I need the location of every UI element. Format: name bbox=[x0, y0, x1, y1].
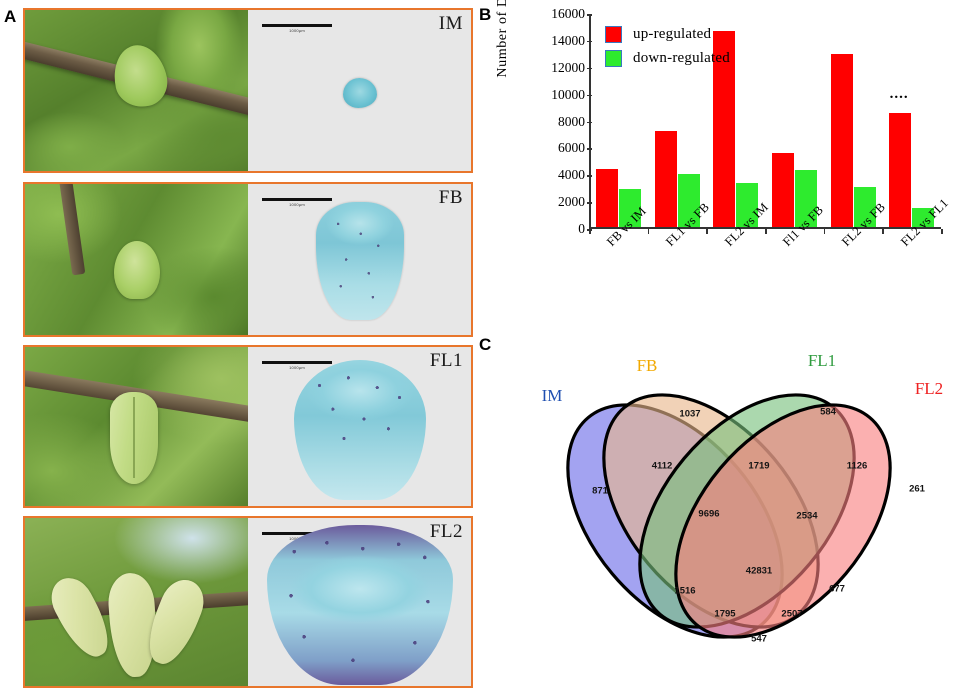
x-tick-mark-2 bbox=[706, 229, 708, 234]
bar-group-3 bbox=[771, 12, 817, 227]
deg-bar-chart: Number of DEGs 0200040006000800010000120… bbox=[497, 8, 959, 328]
specimen-row-fl1: 1000μm FL1 bbox=[23, 345, 473, 508]
venn-count-im_fb_fl1_fl2: 42831 bbox=[746, 566, 773, 577]
photo-fb bbox=[25, 184, 248, 335]
venn-ellipses bbox=[525, 355, 932, 677]
y-tick-14000: 14000 bbox=[545, 33, 585, 49]
venn-count-im_only: 871 bbox=[592, 486, 609, 497]
bar-up-5 bbox=[889, 113, 911, 227]
venn-diagram: IMFBFL1FL2 87110375842614112171911269696… bbox=[497, 336, 959, 691]
y-tick-10000: 10000 bbox=[545, 87, 585, 103]
y-tick-mark bbox=[587, 68, 592, 70]
venn-count-im_fl1: 1516 bbox=[674, 586, 695, 597]
panel-b-letter: B bbox=[479, 6, 491, 23]
specimen-row-fb: 1000μm FB bbox=[23, 182, 473, 337]
venn-set-label-fl2: FL2 bbox=[915, 379, 943, 398]
scale-bar-line bbox=[262, 24, 332, 27]
y-tick-label: 0 bbox=[578, 221, 585, 236]
bar-up-1 bbox=[655, 131, 677, 227]
tissue-section-fb bbox=[316, 202, 404, 320]
photo-im bbox=[25, 10, 248, 171]
venn-count-im_fb: 4112 bbox=[652, 461, 673, 472]
venn-count-fb_fl1_fl2: 2534 bbox=[796, 511, 818, 522]
venn-count-im_fb_fl2: 2507 bbox=[781, 609, 802, 620]
x-tick-mark-end bbox=[941, 229, 943, 234]
photo-fl1 bbox=[25, 347, 248, 506]
y-tick-6000: 6000 bbox=[545, 140, 585, 156]
legend-swatch-down-icon bbox=[605, 50, 622, 67]
scale-bar-caption: 1000μm bbox=[262, 28, 332, 33]
venn-count-im_fb_fl1: 9696 bbox=[698, 509, 719, 520]
scale-bar-im: 1000μm bbox=[262, 24, 332, 33]
bud-shape bbox=[110, 392, 158, 484]
y-tick-label: 16000 bbox=[551, 6, 585, 21]
y-tick-8000: 8000 bbox=[545, 114, 585, 130]
legend-item-up-regulated: up-regulated bbox=[605, 26, 730, 43]
venn-count-fb_fl1: 1719 bbox=[748, 461, 769, 472]
y-tick-mark bbox=[587, 202, 592, 204]
y-tick-mark bbox=[587, 14, 592, 16]
chart-legend: up-regulated down-regulated bbox=[605, 26, 730, 74]
legend-label-up: up-regulated bbox=[633, 26, 711, 43]
venn-count-fl2_only: 261 bbox=[909, 484, 926, 495]
tissue-section-fl2 bbox=[267, 525, 453, 685]
venn-set-label-fb: FB bbox=[637, 356, 658, 375]
x-tick-mark-5 bbox=[882, 229, 884, 234]
micrograph-fb: 1000μm FB bbox=[248, 184, 471, 335]
micrograph-fl1: 1000μm FL1 bbox=[248, 347, 471, 506]
y-tick-mark bbox=[587, 175, 592, 177]
bar-up-4 bbox=[831, 54, 853, 227]
y-tick-label: 14000 bbox=[551, 33, 585, 48]
x-tick-mark-1 bbox=[648, 229, 650, 234]
stage-label-im: IM bbox=[439, 13, 463, 35]
y-tick-label: 10000 bbox=[551, 87, 585, 102]
scale-bar-line bbox=[262, 361, 332, 364]
y-tick-mark bbox=[587, 95, 592, 97]
venn-count-fb_only: 1037 bbox=[679, 409, 700, 420]
photo-fl2 bbox=[25, 518, 248, 686]
specimen-row-fl2: 1000μm FL2 bbox=[23, 516, 473, 688]
bar-group-4 bbox=[830, 12, 876, 227]
venn-count-im_fl2: 547 bbox=[751, 634, 767, 645]
y-tick-label: 2000 bbox=[558, 194, 585, 209]
venn-set-labels: IMFBFL1FL2 bbox=[542, 351, 944, 405]
y-tick-label: 4000 bbox=[558, 167, 585, 182]
bar-up-3 bbox=[772, 153, 794, 227]
legend-item-down-regulated: down-regulated bbox=[605, 50, 730, 67]
y-tick-mark bbox=[587, 122, 592, 124]
panel-c-letter: C bbox=[479, 336, 491, 353]
y-tick-4000: 4000 bbox=[545, 167, 585, 183]
scale-bar-fb: 1000μm bbox=[262, 198, 332, 207]
y-tick-12000: 12000 bbox=[545, 60, 585, 76]
legend-swatch-up-icon bbox=[605, 26, 622, 43]
y-axis-label: Number of DEGs bbox=[495, 0, 511, 94]
x-tick-mark-3 bbox=[765, 229, 767, 234]
stage-label-fb: FB bbox=[439, 187, 463, 209]
y-tick-mark bbox=[587, 41, 592, 43]
tissue-section-fl1 bbox=[294, 360, 426, 500]
venn-count-fl1_only: 584 bbox=[820, 407, 837, 418]
x-tick-mark-0 bbox=[589, 229, 591, 234]
x-tick-mark-4 bbox=[824, 229, 826, 234]
y-tick-mark bbox=[587, 148, 592, 150]
y-tick-label: 6000 bbox=[558, 140, 585, 155]
bar-group-5 bbox=[889, 12, 935, 227]
panel-a-letter: A bbox=[4, 8, 16, 25]
scale-bar-caption: 1000μm bbox=[262, 202, 332, 207]
y-tick-2000: 2000 bbox=[545, 194, 585, 210]
venn-diagram-svg: IMFBFL1FL2 87110375842614112171911269696… bbox=[497, 336, 959, 686]
tissue-section-im bbox=[343, 78, 377, 108]
scale-bar-line bbox=[262, 198, 332, 201]
bar-up-0 bbox=[596, 169, 618, 227]
panel-a-specimen-grid: 1000μm IM 1000μm FB bbox=[23, 8, 473, 688]
stage-label-fl2: FL2 bbox=[430, 521, 463, 543]
y-tick-16000: 16000 bbox=[545, 6, 585, 22]
y-tick-0: 0 bbox=[545, 221, 585, 237]
venn-set-label-im: IM bbox=[542, 386, 563, 405]
venn-count-fb_fl2: 677 bbox=[829, 584, 845, 595]
venn-count-im_fl1_fl2: 1795 bbox=[714, 609, 736, 620]
y-tick-label: 12000 bbox=[551, 60, 585, 75]
significance-marker: .... bbox=[890, 91, 909, 97]
venn-set-label-fl1: FL1 bbox=[808, 351, 836, 370]
micrograph-im: 1000μm IM bbox=[248, 10, 471, 171]
specimen-row-im: 1000μm IM bbox=[23, 8, 473, 173]
bud-shape bbox=[114, 241, 160, 299]
venn-count-fl1_fl2: 1126 bbox=[847, 461, 868, 472]
stage-label-fl1: FL1 bbox=[430, 350, 463, 372]
legend-label-down: down-regulated bbox=[633, 50, 730, 67]
y-tick-label: 8000 bbox=[558, 114, 585, 129]
micrograph-fl2: 1000μm FL2 bbox=[248, 518, 471, 686]
